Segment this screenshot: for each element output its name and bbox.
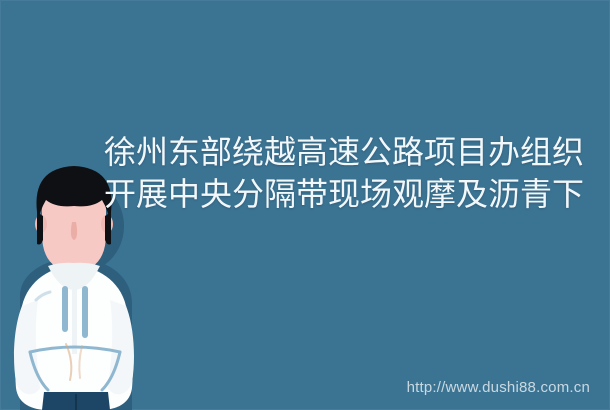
drawstring-right xyxy=(82,286,88,338)
cover-image: 徐州东部绕越高速公路项目办组织 开展中央分隔带现场观摩及沥青下 http://w… xyxy=(0,0,610,410)
title-line-2: 开展中央分隔带现场观摩及沥青下 xyxy=(104,173,590,215)
drawstring-left xyxy=(62,286,68,332)
hair-sideburn-left xyxy=(37,212,43,245)
sleeve-left xyxy=(14,300,40,394)
watermark-url: http://www.dushi88.com.cn xyxy=(407,379,590,397)
title-line-1: 徐州东部绕越高速公路项目办组织 xyxy=(104,131,590,173)
hoodie-placket xyxy=(72,284,77,354)
page-title: 徐州东部绕越高速公路项目办组织 开展中央分隔带现场观摩及沥青下 xyxy=(104,131,590,215)
hair-sideburn-right xyxy=(105,212,111,245)
nose xyxy=(71,222,77,240)
